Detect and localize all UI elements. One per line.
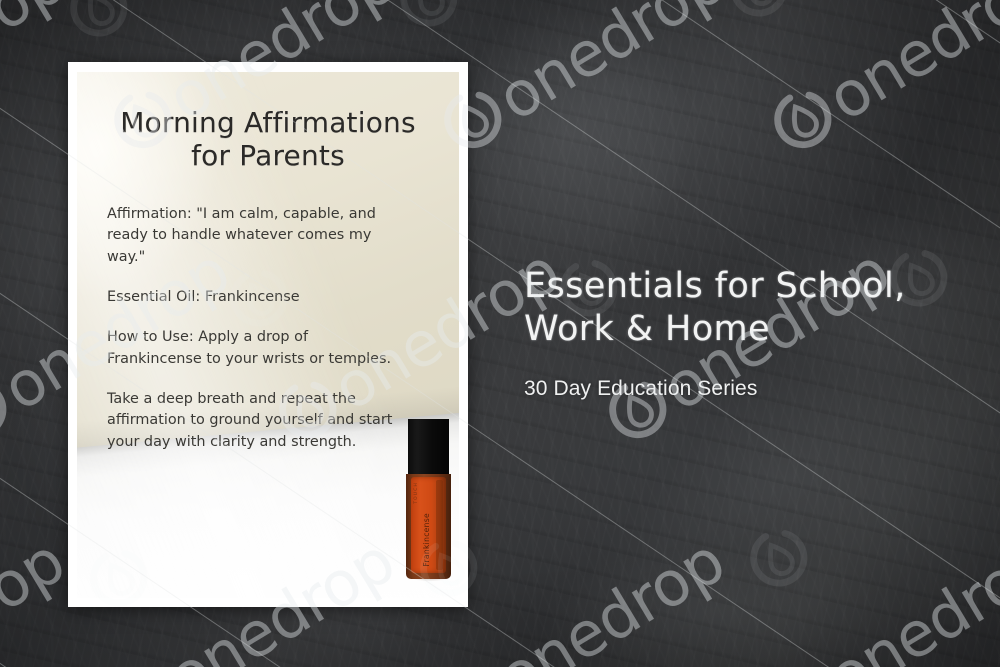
hero-subtitle: 30 Day Education Series [524, 377, 954, 401]
hero-text-block: Essentials for School, Work & Home 30 Da… [524, 265, 954, 401]
card-paragraph-how-to-use: How to Use: Apply a drop of Frankincense… [107, 327, 392, 370]
bottle-label: TOUCH Frankincense [411, 477, 446, 573]
bottle-label-name: Frankincense [422, 513, 431, 567]
hero-title-line-2: Work & Home [524, 308, 954, 351]
bottle-label-stripe [436, 480, 443, 570]
card-title-line-2: for Parents [107, 139, 429, 172]
slide-canvas: Morning Affirmations for Parents Affirma… [0, 0, 1000, 667]
bottle-body: TOUCH Frankincense [406, 474, 451, 579]
card-title-line-1: Morning Affirmations [107, 106, 429, 139]
hero-title-line-1: Essentials for School, [524, 265, 954, 308]
bottle-cap [408, 419, 449, 476]
essential-oil-bottle: TOUCH Frankincense [406, 419, 451, 579]
card-paragraph-closing: Take a deep breath and repeat the affirm… [107, 389, 412, 453]
bottle-label-touch-text: TOUCH [414, 482, 419, 504]
card-photo-area: Morning Affirmations for Parents Affirma… [77, 72, 459, 598]
hero-title: Essentials for School, Work & Home [524, 265, 954, 350]
card-body: Affirmation: "I am calm, capable, and re… [107, 204, 429, 453]
affirmation-card: Morning Affirmations for Parents Affirma… [68, 62, 468, 607]
card-title: Morning Affirmations for Parents [107, 106, 429, 172]
card-text-content: Morning Affirmations for Parents Affirma… [77, 72, 459, 598]
card-paragraph-essential-oil: Essential Oil: Frankincense [107, 287, 392, 308]
card-paragraph-affirmation: Affirmation: "I am calm, capable, and re… [107, 204, 392, 268]
